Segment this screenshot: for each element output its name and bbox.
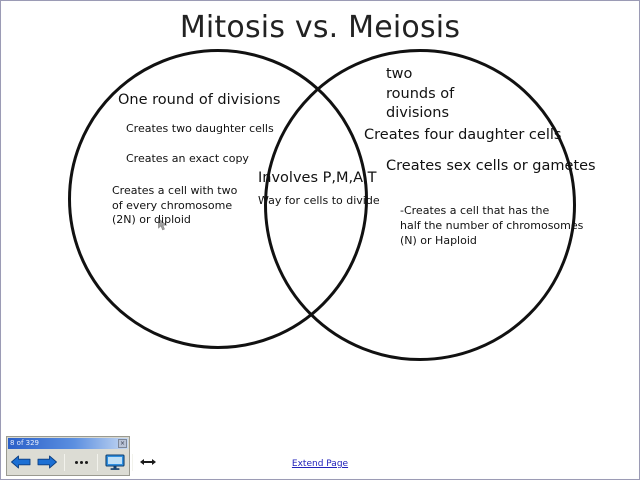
venn-right-heading: two rounds of divisions [386, 65, 454, 124]
nav-widget-titlebar[interactable]: 8 of 329 × [8, 438, 128, 449]
page-counter: 8 of 329 [10, 438, 39, 449]
resize-button[interactable] [139, 455, 157, 469]
ellipsis-icon [71, 454, 91, 470]
previous-page-button[interactable] [10, 453, 32, 471]
venn-right-item-2: Creates sex cells or gametes [386, 157, 596, 176]
venn-center-heading: Involves P,M,A,T [258, 169, 376, 188]
slide-canvas: Mitosis vs. Meiosis One round of divisio… [2, 2, 638, 478]
venn-right-item-1: Creates four daughter cells [364, 126, 561, 145]
toolbar-divider-2 [97, 454, 98, 471]
arrow-right-icon [36, 453, 58, 471]
slide-nav-widget: 8 of 329 × [6, 436, 130, 476]
venn-left-item-1: Creates two daughter cells [126, 122, 274, 136]
mouse-cursor-icon [158, 218, 169, 231]
venn-left-item-3: Creates a cell with two of every chromos… [112, 184, 237, 228]
more-options-button[interactable] [71, 454, 91, 470]
presentation-view-button[interactable] [104, 453, 126, 471]
page-title: Mitosis vs. Meiosis [2, 10, 638, 45]
close-icon[interactable]: × [118, 439, 127, 448]
next-page-button[interactable] [36, 453, 58, 471]
venn-center-item-1: Way for cells to divide [258, 194, 380, 208]
venn-left-heading: One round of divisions [118, 91, 280, 110]
slide-viewer-window: Mitosis vs. Meiosis One round of divisio… [0, 0, 640, 480]
arrow-left-icon [10, 453, 32, 471]
venn-right-item-3: -Creates a cell that has the half the nu… [400, 204, 583, 249]
venn-left-item-2: Creates an exact copy [126, 152, 249, 166]
toolbar-divider-3 [132, 454, 133, 471]
monitor-icon [104, 453, 126, 471]
toolbar-divider-1 [64, 454, 65, 471]
nav-widget-toolbar [7, 449, 129, 475]
resize-horizontal-icon [139, 455, 157, 469]
